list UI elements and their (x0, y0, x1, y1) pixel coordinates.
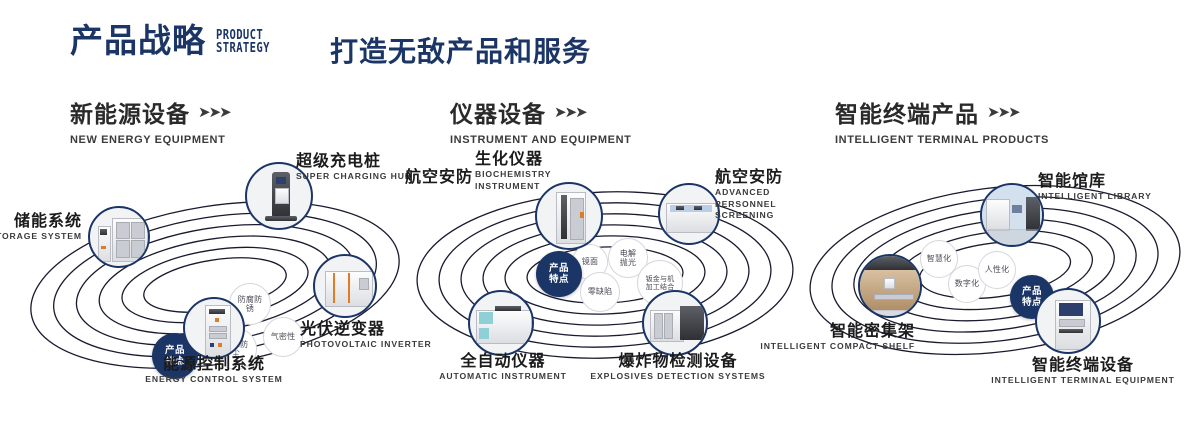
product-node-energy-storage[interactable] (88, 206, 150, 268)
product-label-en: EXPLOSIVES DETECTION SYSTEMS (570, 371, 786, 382)
page-header: 产品战略 PRODUCT STRATEGY (70, 24, 285, 57)
screening-machine-image (660, 185, 718, 243)
energy-storage-cabinet-image (90, 208, 148, 266)
automatic-instrument-image (470, 292, 532, 354)
section-heading-new-energy: 新能源设备➤➤➤ NEW ENERGY EQUIPMENT (70, 95, 230, 146)
product-label-intelligent-library: 智能馆库 INTELLIGENT LIBRARY (1038, 172, 1200, 203)
product-label-en: ENERGY STORAGE SYSTEM (0, 231, 82, 242)
orbit-group-intelligent: 智慧化 数字化 人性化 产品 特点 智能馆库 INTELLIGENT LIBRA… (790, 150, 1200, 420)
product-label-cn: 智能馆库 (1038, 172, 1200, 190)
explosives-detection-image (644, 292, 706, 354)
feature-bubble-label: 电解抛光 (616, 249, 640, 267)
chevron-right-icon: ➤➤➤ (198, 103, 230, 121)
product-label-energy-control-system: 能源控制系统 ENERGY CONTROL SYSTEM (108, 355, 320, 386)
intelligent-library-image (982, 185, 1042, 245)
chevron-right-icon: ➤➤➤ (987, 103, 1019, 121)
page-title-english: PRODUCT STRATEGY (216, 29, 270, 55)
product-label-cn: 爆炸物检测设备 (570, 352, 786, 370)
orbit-group-instrument: 镜面 电解抛光 零缺陷 钣金与机加工结合 产品 特点 航空安防 生化仪器 BIO… (400, 150, 820, 420)
badge-line1: 产品 (549, 263, 569, 274)
section-title-cn: 智能终端产品 (835, 95, 979, 129)
product-label-compact-shelf: 智能密集架 INTELLIGENT COMPACT SHELF (710, 322, 915, 353)
section-title-cn: 新能源设备 (70, 95, 190, 129)
feature-bubble: 气密性 (263, 317, 303, 357)
chevron-right-icon: ➤➤➤ (554, 103, 586, 121)
section-heading-intelligent: 智能终端产品➤➤➤ INTELLIGENT TERMINAL PRODUCTS (835, 95, 1049, 146)
product-strategy-infographic: 产品战略 PRODUCT STRATEGY 打造无敌产品和服务 新能源设备➤➤➤… (0, 0, 1200, 422)
product-node-terminal-equipment[interactable] (1035, 288, 1101, 354)
security-gate-image (537, 184, 601, 248)
feature-bubble-label: 钣金与机加工结合 (644, 275, 676, 291)
orbit-group-new-energy: 户外 防腐防锈 防水防尘 气密性 产品 特点 储能系统 (0, 150, 420, 420)
section-heading-instrument: 仪器设备➤➤➤ INSTRUMENT AND EQUIPMENT (450, 95, 631, 146)
feature-bubble: 人性化 (978, 251, 1016, 289)
product-node-intelligent-library[interactable] (980, 183, 1044, 247)
section-title-en: NEW ENERGY EQUIPMENT (70, 134, 230, 146)
product-label-cn: 智能终端设备 (968, 356, 1198, 374)
product-node-explosives-detection[interactable] (642, 290, 708, 356)
product-label-en: INTELLIGENT LIBRARY (1038, 191, 1200, 202)
product-features-badge-label: 产品 特点 (547, 263, 571, 285)
terminal-equipment-image (1037, 290, 1099, 352)
product-label-energy-storage: 储能系统 ENERGY STORAGE SYSTEM (0, 212, 82, 243)
product-label-en: INTELLIGENT TERMINAL EQUIPMENT (968, 375, 1198, 386)
product-node-personnel-screening[interactable] (658, 183, 720, 245)
section-title-cn: 仪器设备 (450, 95, 546, 129)
product-label-terminal-equipment: 智能终端设备 INTELLIGENT TERMINAL EQUIPMENT (968, 356, 1198, 387)
product-label-en: INTELLIGENT COMPACT SHELF (710, 341, 915, 352)
product-node-photovoltaic-inverter[interactable] (313, 254, 377, 318)
product-label-cn: 生化仪器 (475, 150, 595, 168)
product-node-biochemistry-instrument[interactable] (535, 182, 603, 250)
product-label-en: BIOCHEMISTRY INSTRUMENT (475, 169, 535, 191)
product-features-badge: 产品 特点 (536, 251, 582, 297)
product-label-explosives-detection: 爆炸物检测设备 EXPLOSIVES DETECTION SYSTEMS (570, 352, 786, 383)
product-node-energy-control-system[interactable] (183, 297, 245, 359)
photovoltaic-inverter-image (315, 256, 375, 316)
product-label-cn: 能源控制系统 (108, 355, 320, 373)
page-title-english-line2: STRATEGY (216, 42, 270, 55)
section-title-en: INTELLIGENT TERMINAL PRODUCTS (835, 134, 1049, 146)
product-label-cn: 储能系统 (0, 212, 82, 230)
product-label-en: ENERGY CONTROL SYSTEM (108, 374, 320, 385)
page-title: 产品战略 (70, 24, 206, 57)
section-title-en: INSTRUMENT AND EQUIPMENT (450, 134, 631, 146)
badge-line2: 特点 (549, 274, 569, 285)
product-node-automatic-instrument[interactable] (468, 290, 534, 356)
product-label-biochemistry-instrument: 生化仪器 BIOCHEMISTRY INSTRUMENT (475, 150, 595, 192)
page-slogan: 打造无敌产品和服务 (330, 30, 591, 70)
product-label-cn: 智能密集架 (710, 322, 915, 340)
energy-control-cabinet-image (185, 299, 243, 357)
feature-bubble: 零缺陷 (580, 272, 620, 312)
product-node-compact-shelf[interactable] (858, 254, 922, 318)
compact-shelf-image (860, 256, 920, 316)
